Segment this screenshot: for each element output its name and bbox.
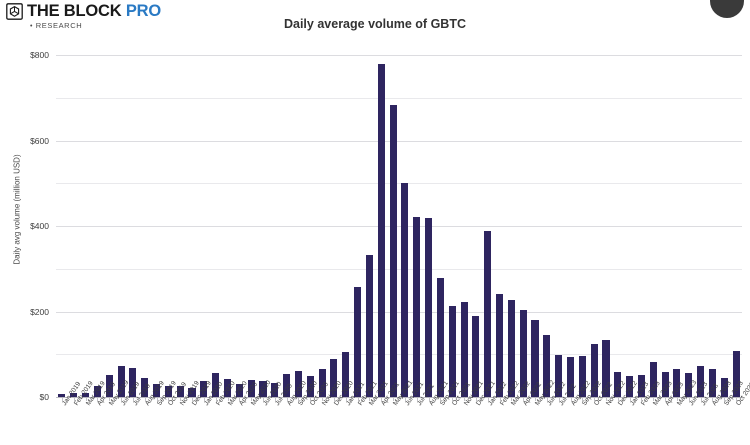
bar [401,183,408,397]
bar [484,231,491,397]
y-axis-tick-label: $400 [0,221,49,231]
bar [390,105,397,397]
bar [413,217,420,397]
gridline-minor [56,269,742,270]
gridline-minor [56,98,742,99]
gridline-major [56,141,742,142]
y-axis-tick-label: $600 [0,136,49,146]
y-axis-tick-label: $800 [0,50,49,60]
bar [425,218,432,397]
bar [378,64,385,397]
gridline-minor [56,354,742,355]
bar [366,255,373,397]
gridline-major [56,55,742,56]
gridline-minor [56,183,742,184]
bar [437,278,444,397]
y-axis-title: Daily avg volume (million USD) [13,120,22,300]
chart-canvas: Daily avg volume (million USD) $0$200$40… [0,0,750,445]
gridline-major [56,312,742,313]
gridline-major [56,226,742,227]
y-axis-tick-label: $200 [0,307,49,317]
y-axis-tick-label: $0 [0,392,49,402]
